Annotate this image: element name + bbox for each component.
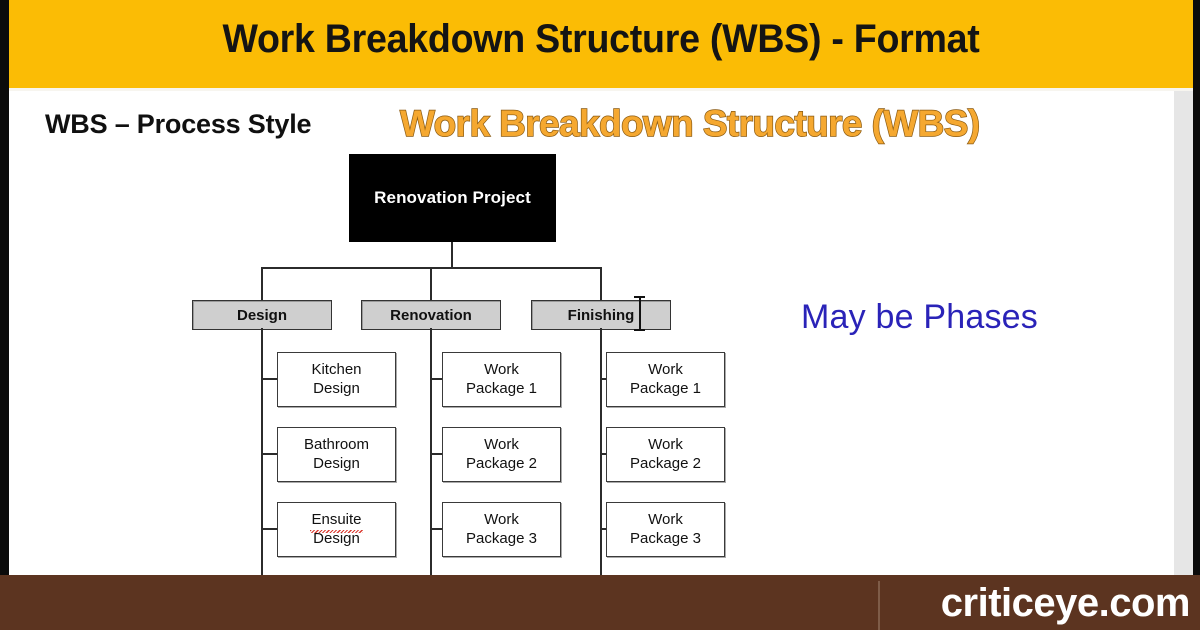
- wbs-tree: Renovation Project Design Renovation Fin…: [9, 91, 1174, 575]
- leaf-line-1: Work: [466, 511, 537, 529]
- wbs-leaf-node[interactable]: Work Package 3: [442, 502, 561, 557]
- page-title: Work Breakdown Structure (WBS) - Format: [45, 17, 1158, 62]
- leaf-line-2: Package 1: [630, 380, 701, 398]
- wbs-phase-node-finishing[interactable]: Finishing: [531, 300, 671, 330]
- wbs-root-node[interactable]: Renovation Project: [349, 154, 556, 242]
- footer-bar: criticeye.com: [0, 575, 1200, 630]
- text-cursor-icon: [634, 294, 645, 332]
- leaf-line-1: Work: [466, 361, 537, 379]
- leaf-line-2: Package 2: [466, 455, 537, 473]
- site-brand[interactable]: criticeye.com: [941, 583, 1190, 623]
- connector-drop-renovation: [430, 267, 432, 300]
- leaf-line-1: Work: [630, 361, 701, 379]
- wbs-leaf-node[interactable]: Bathroom Design: [277, 427, 396, 482]
- leaf-line-2: Design: [304, 455, 369, 473]
- connector-stub-design-1: [261, 453, 278, 455]
- wbs-phase-node-renovation[interactable]: Renovation: [361, 300, 501, 330]
- leaf-line-1: Bathroom: [304, 436, 369, 454]
- leaf-line-1: Kitchen: [311, 361, 361, 379]
- leaf-line-2: Package 3: [466, 530, 537, 548]
- wbs-leaf-node[interactable]: Work Package 2: [606, 427, 725, 482]
- wbs-leaf-node[interactable]: Work Package 1: [442, 352, 561, 407]
- wbs-leaf-node[interactable]: Ensuite Design: [277, 502, 396, 557]
- connector-drop-finishing: [600, 267, 602, 300]
- scroll-gutter[interactable]: [1174, 91, 1193, 575]
- leaf-line-2: Design: [311, 380, 361, 398]
- banner-separator: [9, 88, 1193, 91]
- window-right-border: [1193, 0, 1200, 630]
- leaf-line-1-misspelled: Ensuite: [311, 511, 361, 529]
- wbs-leaf-node[interactable]: Kitchen Design: [277, 352, 396, 407]
- slide-canvas[interactable]: WBS – Process Style Work Breakdown Struc…: [9, 91, 1174, 575]
- wbs-leaf-node[interactable]: Work Package 1: [606, 352, 725, 407]
- wbs-phase-node-design[interactable]: Design: [192, 300, 332, 330]
- leaf-line-1: Work: [630, 511, 701, 529]
- connector-spine-design: [261, 328, 263, 575]
- connector-stub-design-2: [261, 528, 278, 530]
- connector-spine-finishing: [600, 328, 602, 575]
- leaf-line-2: Package 3: [630, 530, 701, 548]
- footer-divider: [878, 581, 880, 630]
- window-left-border: [0, 0, 9, 630]
- leaf-line-2: Package 2: [630, 455, 701, 473]
- leaf-line-1: Work: [466, 436, 537, 454]
- connector-spine-renovation: [430, 328, 432, 575]
- screenshot-root: Work Breakdown Structure (WBS) - Format …: [0, 0, 1200, 630]
- wbs-leaf-node[interactable]: Work Package 3: [606, 502, 725, 557]
- connector-stub-design-0: [261, 378, 278, 380]
- connector-drop-design: [261, 267, 263, 300]
- page-banner: Work Breakdown Structure (WBS) - Format: [9, 0, 1193, 88]
- wbs-leaf-node[interactable]: Work Package 2: [442, 427, 561, 482]
- leaf-line-2: Package 1: [466, 380, 537, 398]
- connector-root-stem: [451, 242, 453, 268]
- leaf-line-1: Work: [630, 436, 701, 454]
